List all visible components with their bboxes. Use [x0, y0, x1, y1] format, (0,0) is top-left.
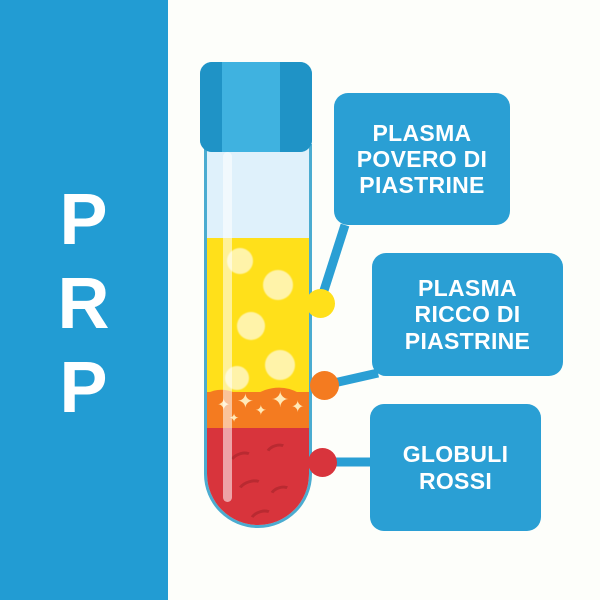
platelet-blob: [237, 312, 265, 340]
prp-letter-2: R: [0, 262, 168, 346]
sparkle-icon: ✦: [271, 392, 289, 408]
test-tube: ✦ ✦ ✦ ✦ ✦ ✦: [204, 144, 312, 528]
prp-infographic: P R P ✦ ✦ ✦ ✦: [0, 0, 600, 600]
prp-letter-3: P: [0, 346, 168, 430]
cap-shade-right: [280, 62, 312, 152]
prp-title: P R P: [0, 178, 168, 430]
glass-highlight: [223, 152, 232, 502]
sparkle-icon: ✦: [291, 400, 304, 416]
sparkle-icon: ✦: [255, 402, 267, 418]
prp-connector-dot[interactable]: [310, 371, 339, 400]
callout-plasma-ricco-text: PLASMA RICCO DI PIASTRINE: [395, 275, 540, 354]
tube-cap: [200, 62, 312, 152]
callout-plasma-povero-text: PLASMA POVERO DI PIASTRINE: [347, 120, 498, 199]
cap-gloss: [222, 62, 280, 152]
platelet-blob: [263, 270, 293, 300]
callout-plasma-ricco[interactable]: PLASMA RICCO DI PIASTRINE: [372, 253, 563, 376]
rbc-connector-dot[interactable]: [308, 448, 337, 477]
cap-shade-left: [200, 62, 222, 152]
tube-glass: ✦ ✦ ✦ ✦ ✦ ✦: [204, 144, 312, 528]
sparkle-icon: ✦: [237, 394, 254, 410]
callout-globuli-rossi-text: GLOBULI ROSSI: [393, 441, 519, 493]
platelet-blob: [265, 350, 295, 380]
callout-plasma-povero[interactable]: PLASMA POVERO DI PIASTRINE: [334, 93, 510, 225]
plasma-connector-dot[interactable]: [306, 289, 335, 318]
callout-globuli-rossi[interactable]: GLOBULI ROSSI: [370, 404, 541, 531]
prp-letter-1: P: [0, 178, 168, 262]
